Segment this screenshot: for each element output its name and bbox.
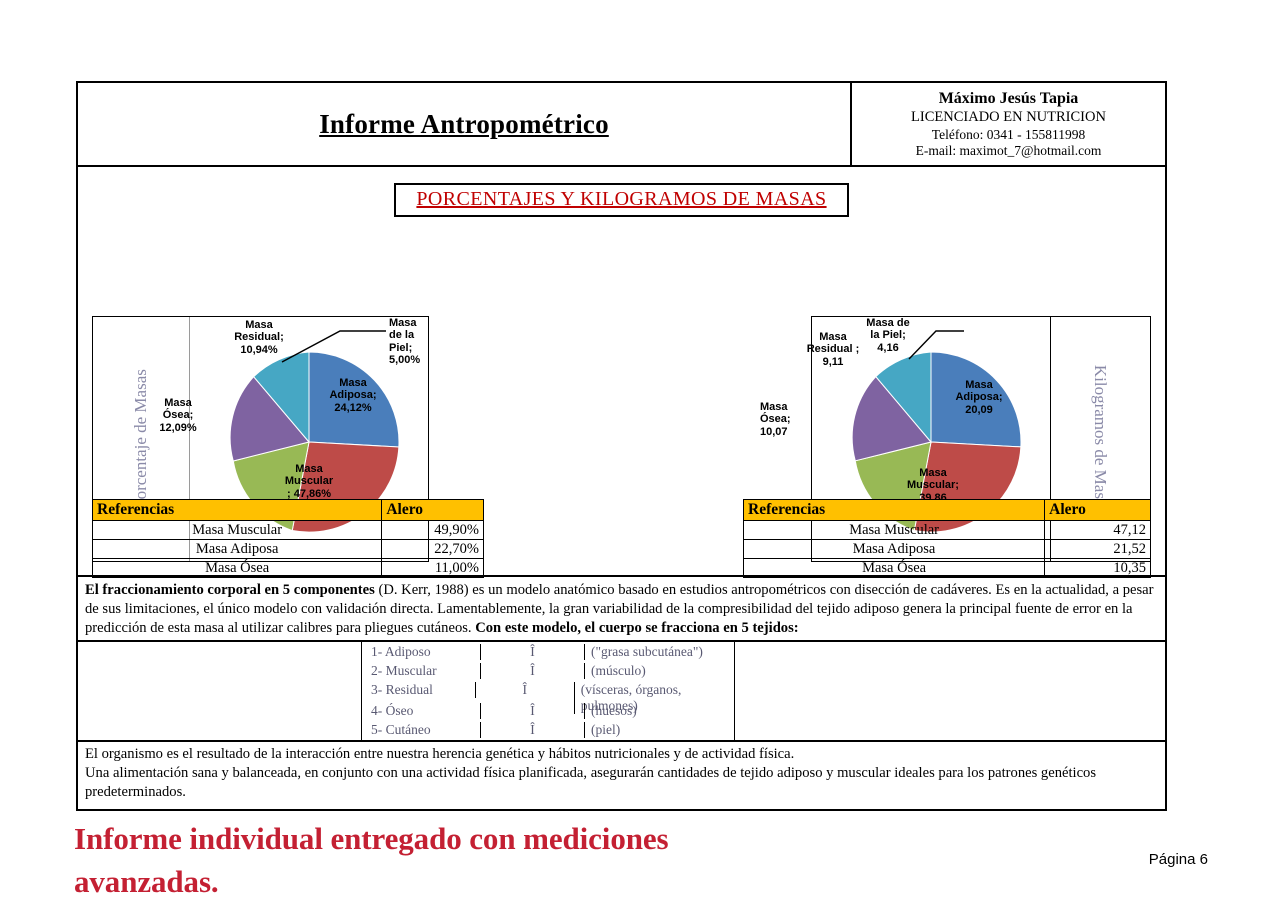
pie-label-adiposa: Masa Adiposa; 24,12% (314, 377, 392, 414)
contact-phone: Teléfono: 0341 - 155811998 (932, 127, 1085, 143)
footer-line-2: avanzadas. (74, 861, 854, 904)
page-title: Informe Antropométrico (319, 109, 609, 140)
cell-value: 21,52 (1045, 540, 1151, 559)
closing-line-1: El organismo es el resultado de la inter… (85, 745, 1158, 764)
table-row: Masa Ósea 10,35 (744, 559, 1151, 578)
page-root: Informe Antropométrico Máximo Jesús Tapi… (0, 0, 1280, 906)
page-number: Página 6 (1149, 851, 1208, 868)
table-header-row: Referencias Alero (93, 500, 484, 521)
pie-label-muscular: Masa Muscular ; 47,86% (260, 463, 358, 500)
arrow-icon: Î (480, 663, 584, 679)
cell-name: Masa Adiposa (744, 540, 1045, 559)
axis-label-kilograms: Kilogramos de Masas (1091, 365, 1111, 513)
pie-label-osea-kg: Masa Ósea; 10,07 (760, 401, 838, 438)
arrow-icon: Î (475, 682, 574, 698)
pie-label-adiposa-kg: Masa Adiposa; 20,09 (938, 379, 1020, 416)
reference-tables-row: Referencias Alero Masa Muscular 49,90% M… (78, 499, 1165, 578)
section-banner-text: PORCENTAJES Y KILOGRAMOS DE MASAS (416, 188, 826, 210)
explanation-block: El fraccionamiento corporal en 5 compone… (78, 577, 1165, 642)
header-contact-cell: Máximo Jesús Tapia LICENCIADO EN NUTRICI… (852, 83, 1165, 165)
reference-table-kilograms: Referencias Alero Masa Muscular 47,12 Ma… (743, 499, 1151, 578)
th-alero-left: Alero (382, 500, 484, 521)
tissue-list-block: 1- Adiposo Î ("grasa subcutánea") 2- Mus… (78, 642, 1165, 742)
cell-value: 11,00% (382, 559, 484, 578)
reference-table-percent: Referencias Alero Masa Muscular 49,90% M… (92, 499, 484, 578)
footer-line-1: Informe individual entregado con medicio… (74, 818, 854, 861)
list-item: 3- Residual Î (vísceras, órganos, pulmon… (362, 682, 734, 703)
list-item: 5- Cutáneo Î (piel) (362, 722, 734, 741)
cell-value: 49,90% (382, 521, 484, 540)
cell-name: Masa Ósea (93, 559, 382, 578)
cell-value: 10,35 (1045, 559, 1151, 578)
tissue-description: (músculo) (584, 663, 734, 679)
tissue-list: 1- Adiposo Î ("grasa subcutánea") 2- Mus… (362, 642, 734, 740)
contact-profession: LICENCIADO EN NUTRICION (911, 109, 1106, 127)
header-title-cell: Informe Antropométrico (78, 83, 852, 165)
list-item: 4- Óseo Î (huesos) (362, 703, 734, 722)
table-row: Masa Ósea 11,00% (93, 559, 484, 578)
tissue-spacer-left (78, 642, 362, 740)
th-referencias-right: Referencias (744, 500, 1045, 521)
cell-name: Masa Muscular (744, 521, 1045, 540)
table-row: Masa Adiposa 22,70% (93, 540, 484, 559)
th-referencias-left: Referencias (93, 500, 382, 521)
closing-block: El organismo es el resultado de la inter… (78, 742, 1165, 803)
report-header: Informe Antropométrico Máximo Jesús Tapi… (78, 83, 1165, 167)
section-banner: PORCENTAJES Y KILOGRAMOS DE MASAS (394, 183, 848, 217)
tissue-number: 4- Óseo (362, 703, 480, 719)
tissue-number: 1- Adiposo (362, 644, 480, 660)
contact-name: Máximo Jesús Tapia (939, 90, 1079, 109)
explanation-paragraph: El fraccionamiento corporal en 5 compone… (85, 581, 1158, 637)
arrow-icon: Î (480, 722, 584, 738)
tissue-description: (huesos) (584, 703, 734, 719)
list-item: 2- Muscular Î (músculo) (362, 663, 734, 682)
table-row: Masa Adiposa 21,52 (744, 540, 1151, 559)
explanation-trail-bold: Con este modelo, el cuerpo se fracciona … (475, 620, 798, 636)
table-header-row: Referencias Alero (744, 500, 1151, 521)
axis-label-percent: Porcentaje de Masas (131, 369, 151, 509)
charts-section: PORCENTAJES Y KILOGRAMOS DE MASAS Porcen… (78, 167, 1165, 577)
cell-name: Masa Ósea (744, 559, 1045, 578)
cell-value: 22,70% (382, 540, 484, 559)
pie-label-piel-kg: Masa de la Piel; 4,16 (850, 317, 926, 354)
tissue-number: 5- Cutáneo (362, 722, 480, 738)
tissue-description: (piel) (584, 722, 734, 738)
pie-label-piel: Masa de la Piel; 5,00% (389, 317, 451, 366)
section-banner-wrap: PORCENTAJES Y KILOGRAMOS DE MASAS (78, 167, 1165, 217)
closing-line-2: Una alimentación sana y balanceada, en c… (85, 764, 1158, 802)
table-row: Masa Muscular 49,90% (93, 521, 484, 540)
tissue-number: 3- Residual (362, 682, 475, 698)
tissue-number: 2- Muscular (362, 663, 480, 679)
list-item: 1- Adiposo Î ("grasa subcutánea") (362, 644, 734, 663)
footer-highlight: Informe individual entregado con medicio… (74, 818, 854, 904)
cell-name: Masa Adiposa (93, 540, 382, 559)
table-row: Masa Muscular 47,12 (744, 521, 1151, 540)
cell-name: Masa Muscular (93, 521, 382, 540)
pie-label-osea: Masa Ósea; 12,09% (136, 397, 220, 434)
th-alero-right: Alero (1045, 500, 1151, 521)
arrow-icon: Î (480, 644, 584, 660)
explanation-lead-bold: El fraccionamiento corporal en 5 compone… (85, 582, 375, 598)
pie-label-residual: Masa Residual; 10,94% (216, 319, 302, 356)
report-frame: Informe Antropométrico Máximo Jesús Tapi… (76, 81, 1167, 811)
contact-email: E-mail: maximot_7@hotmail.com (916, 143, 1102, 159)
tissue-spacer-right (734, 642, 1165, 740)
tissue-description: ("grasa subcutánea") (584, 644, 734, 660)
arrow-icon: Î (480, 703, 584, 719)
cell-value: 47,12 (1045, 521, 1151, 540)
